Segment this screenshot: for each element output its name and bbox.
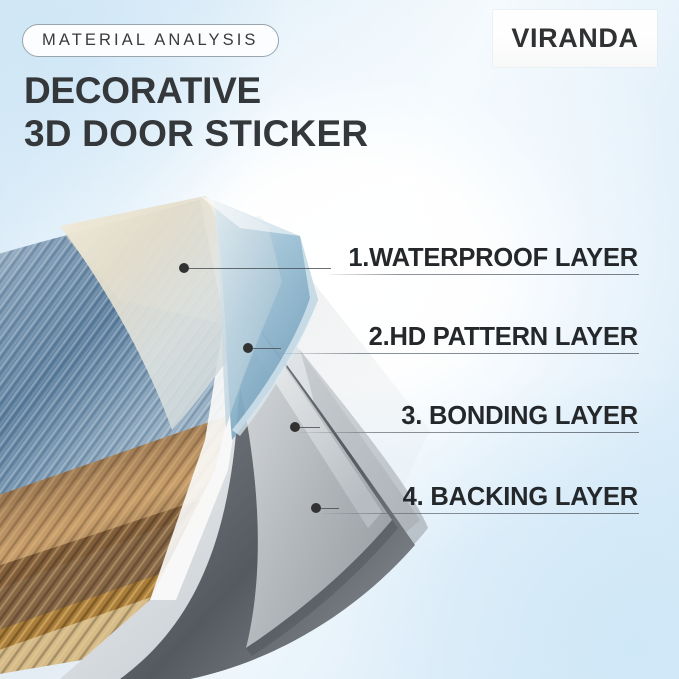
- callout-rule-waterproof: [330, 274, 639, 275]
- callout-dot-pattern: [243, 343, 253, 353]
- brand-logo: VIRANDA: [493, 10, 657, 67]
- callout-dot-bonding: [290, 422, 300, 432]
- poster-canvas: MATERIAL ANALYSIS DECORATIVE 3D DOOR STI…: [0, 0, 679, 679]
- callout-label-backing: 4. BACKING LAYER: [403, 483, 638, 512]
- callout-dot-waterproof: [179, 263, 189, 273]
- callout-dot-backing: [311, 503, 321, 513]
- brand-name: VIRANDA: [511, 23, 638, 54]
- headline-line-2: 3D DOOR STICKER: [24, 112, 368, 155]
- callout-label-waterproof: 1.WATERPROOF LAYER: [348, 244, 638, 273]
- callout-rule-pattern: [280, 353, 639, 354]
- callout-rule-backing: [322, 513, 639, 514]
- headline-line-1: DECORATIVE: [24, 69, 368, 112]
- callout-leader-waterproof: [189, 268, 331, 269]
- callout-leader-pattern: [253, 348, 281, 349]
- callout-rule-bonding: [300, 432, 639, 433]
- page-title: DECORATIVE 3D DOOR STICKER: [24, 69, 368, 155]
- material-analysis-badge: MATERIAL ANALYSIS: [22, 24, 279, 57]
- badge-label: MATERIAL ANALYSIS: [42, 31, 259, 50]
- callout-leader-bonding: [300, 427, 320, 428]
- callout-label-pattern: 2.HD PATTERN LAYER: [369, 323, 638, 352]
- callout-label-bonding: 3. BONDING LAYER: [401, 402, 638, 431]
- callout-leader-backing: [321, 508, 339, 509]
